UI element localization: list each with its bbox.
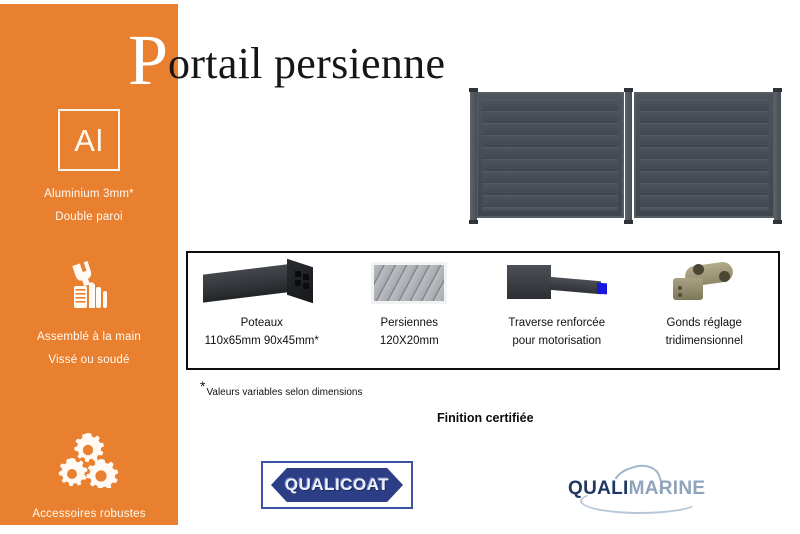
gate-post-middle (625, 90, 632, 220)
component-traverse-title: Traverse renforcée (508, 317, 605, 329)
component-persiennes: Persiennes 120X20mm (336, 253, 484, 368)
component-gonds: Gonds réglage tridimensionnel (631, 253, 779, 368)
gate-leaf-right (634, 92, 775, 218)
gears-icon (0, 429, 178, 491)
aluminium-al-icon: Al (0, 109, 178, 171)
sidebar-label-aluminium-2: Double paroi (0, 211, 178, 223)
title-drop-cap: P (128, 20, 168, 100)
component-traverse-sub: pour motorisation (508, 333, 605, 351)
gate-post-right (774, 90, 781, 220)
component-traverse-caption: Traverse renforcée pour motorisation (508, 315, 605, 351)
sidebar-item-accessories: Accessoires robustes (0, 429, 178, 520)
footnote-text: Valeurs variables selon dimensions (206, 387, 362, 398)
aluminium-post-profile-image (203, 259, 321, 307)
qualimarine-logo-text-2: MARINE (629, 478, 706, 499)
component-poteaux: Poteaux 110x65mm 90x45mm* (188, 253, 336, 368)
title-rest: ortail persienne (168, 39, 445, 88)
reinforced-crossbar-image (505, 259, 609, 307)
component-persiennes-caption: Persiennes 120X20mm (380, 315, 439, 351)
footnote-star: * (200, 378, 205, 394)
three-dimensional-hinge-image (671, 259, 737, 307)
component-persiennes-sub: 120X20mm (380, 333, 439, 351)
component-poteaux-title: Poteaux (241, 317, 283, 329)
gate-leaf-left (476, 92, 624, 218)
finition-certifiee-heading: Finition certifiée (437, 411, 534, 425)
sidebar-label-aluminium-1: Aluminium 3mm* (0, 188, 178, 200)
double-leaf-louvre-gate-photo (468, 88, 783, 226)
component-gonds-sub: tridimensionnel (666, 333, 743, 351)
components-detail-box: Poteaux 110x65mm 90x45mm* Persiennes 120… (186, 251, 780, 370)
component-poteaux-caption: Poteaux 110x65mm 90x45mm* (205, 315, 319, 351)
qualicoat-logo-text: QUALICOAT (285, 475, 389, 495)
product-sheet-page: Al Aluminium 3mm* Double paroi (0, 0, 800, 534)
sidebar-label-assembly-1: Assemblé à la main (0, 331, 178, 343)
component-poteaux-sub: 110x65mm 90x45mm* (205, 333, 319, 351)
hand-wrench-icon (0, 256, 178, 318)
qualicoat-logo: QUALICOAT (261, 461, 413, 509)
footnote: *Valeurs variables selon dimensions (200, 378, 362, 398)
page-title: Portail persienne (128, 24, 445, 96)
component-persiennes-title: Persiennes (380, 317, 438, 329)
gate-post-left (470, 90, 477, 220)
al-badge-text: Al (74, 125, 104, 156)
sidebar-item-aluminium: Al Aluminium 3mm* Double paroi (0, 109, 178, 223)
component-gonds-caption: Gonds réglage tridimensionnel (666, 315, 743, 351)
component-gonds-title: Gonds réglage (667, 317, 742, 329)
sidebar-label-accessories-1: Accessoires robustes (0, 508, 178, 520)
qualimarine-logo-text-1: QUALI (568, 478, 629, 499)
sidebar-label-assembly-2: Vissé ou soudé (0, 354, 178, 366)
louvre-slats-image (371, 259, 447, 307)
qualimarine-logo: QUALIMARINE (560, 466, 710, 506)
sidebar-item-assembly: Assemblé à la main Vissé ou soudé (0, 256, 178, 366)
component-traverse: Traverse renforcée pour motorisation (483, 253, 631, 368)
